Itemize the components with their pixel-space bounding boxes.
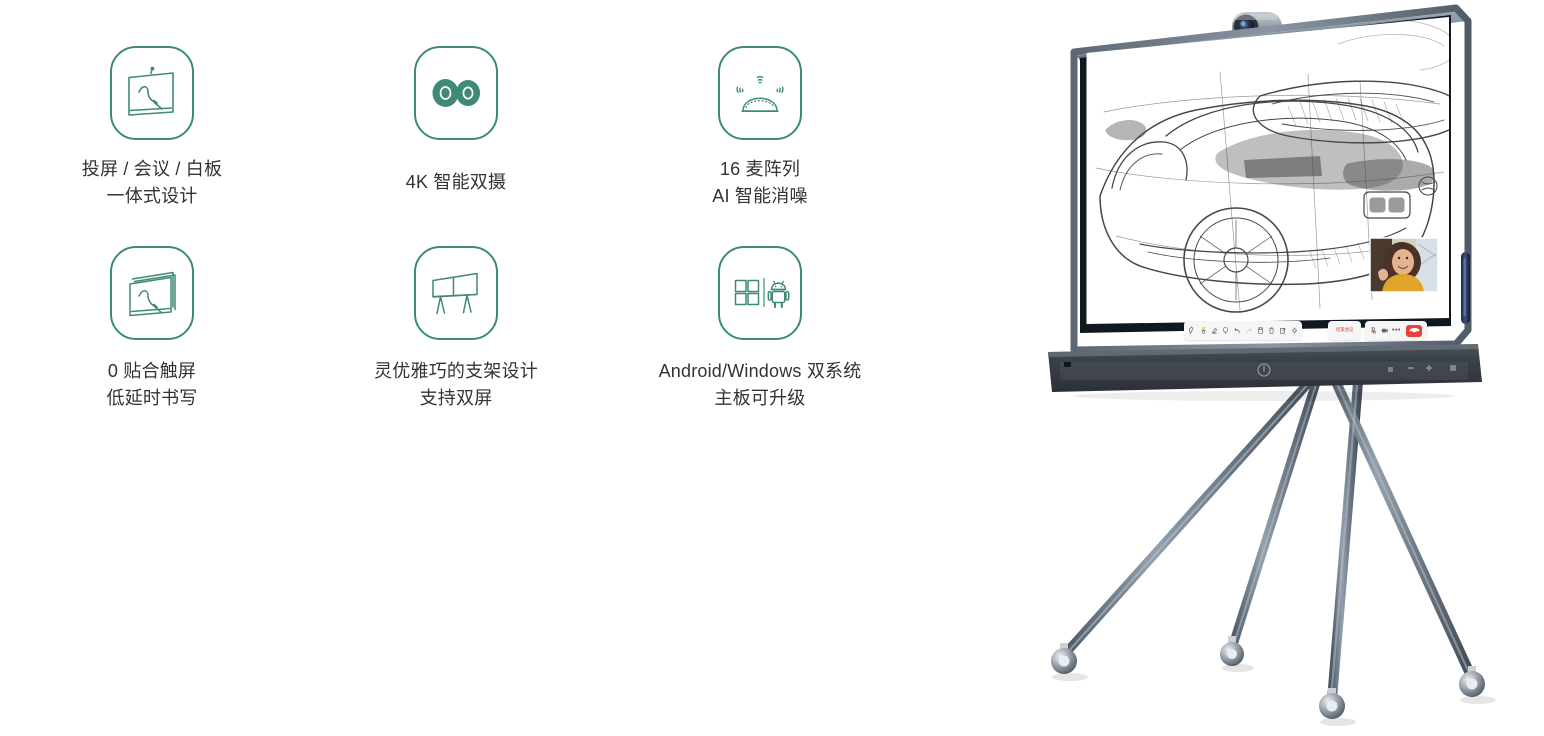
device-product-photo [1020, 0, 1544, 736]
video-thumbnail [1370, 238, 1438, 292]
feature-label: 16 麦阵列 AI 智能消噪 [712, 156, 807, 210]
stand-legs [1064, 358, 1472, 700]
whiteboard-screen-icon [110, 46, 194, 140]
feature-label: 0 贴合触屏 低延时书写 [107, 358, 198, 412]
layered-touch-screen-icon [110, 246, 194, 340]
soundbar [1048, 344, 1482, 401]
feature-item-dual-camera: 4K 智能双摄 [304, 46, 608, 246]
windows-android-icon [718, 246, 802, 340]
feature-label: 投屏 / 会议 / 白板 一体式设计 [82, 156, 222, 210]
feature-grid: 投屏 / 会议 / 白板 一体式设计 4K 智能双摄 [0, 46, 900, 446]
dual-camera-icon [414, 46, 498, 140]
feature-label: 4K 智能双摄 [406, 169, 506, 196]
screen [1080, 10, 1463, 335]
feature-item-mic-array: 16 麦阵列 AI 智能消噪 [608, 46, 912, 246]
stylus-pen [1461, 252, 1470, 324]
dual-screen-stand-icon [414, 246, 498, 340]
feature-item-stand-design: 灵优雅巧的支架设计 支持双屏 [304, 246, 608, 446]
status-led [1064, 362, 1071, 367]
feature-item-zero-bonding-touch: 0 贴合触屏 低延时书写 [0, 246, 304, 446]
microphone-array-icon [718, 46, 802, 140]
feature-item-screencast-meeting-whiteboard: 投屏 / 会议 / 白板 一体式设计 [0, 46, 304, 246]
caster-wheels [1051, 636, 1496, 726]
feature-item-dual-os: Android/Windows 双系统 主板可升级 [608, 246, 912, 446]
feature-label: 灵优雅巧的支架设计 支持双屏 [374, 358, 538, 412]
feature-label: Android/Windows 双系统 主板可升级 [659, 358, 862, 412]
